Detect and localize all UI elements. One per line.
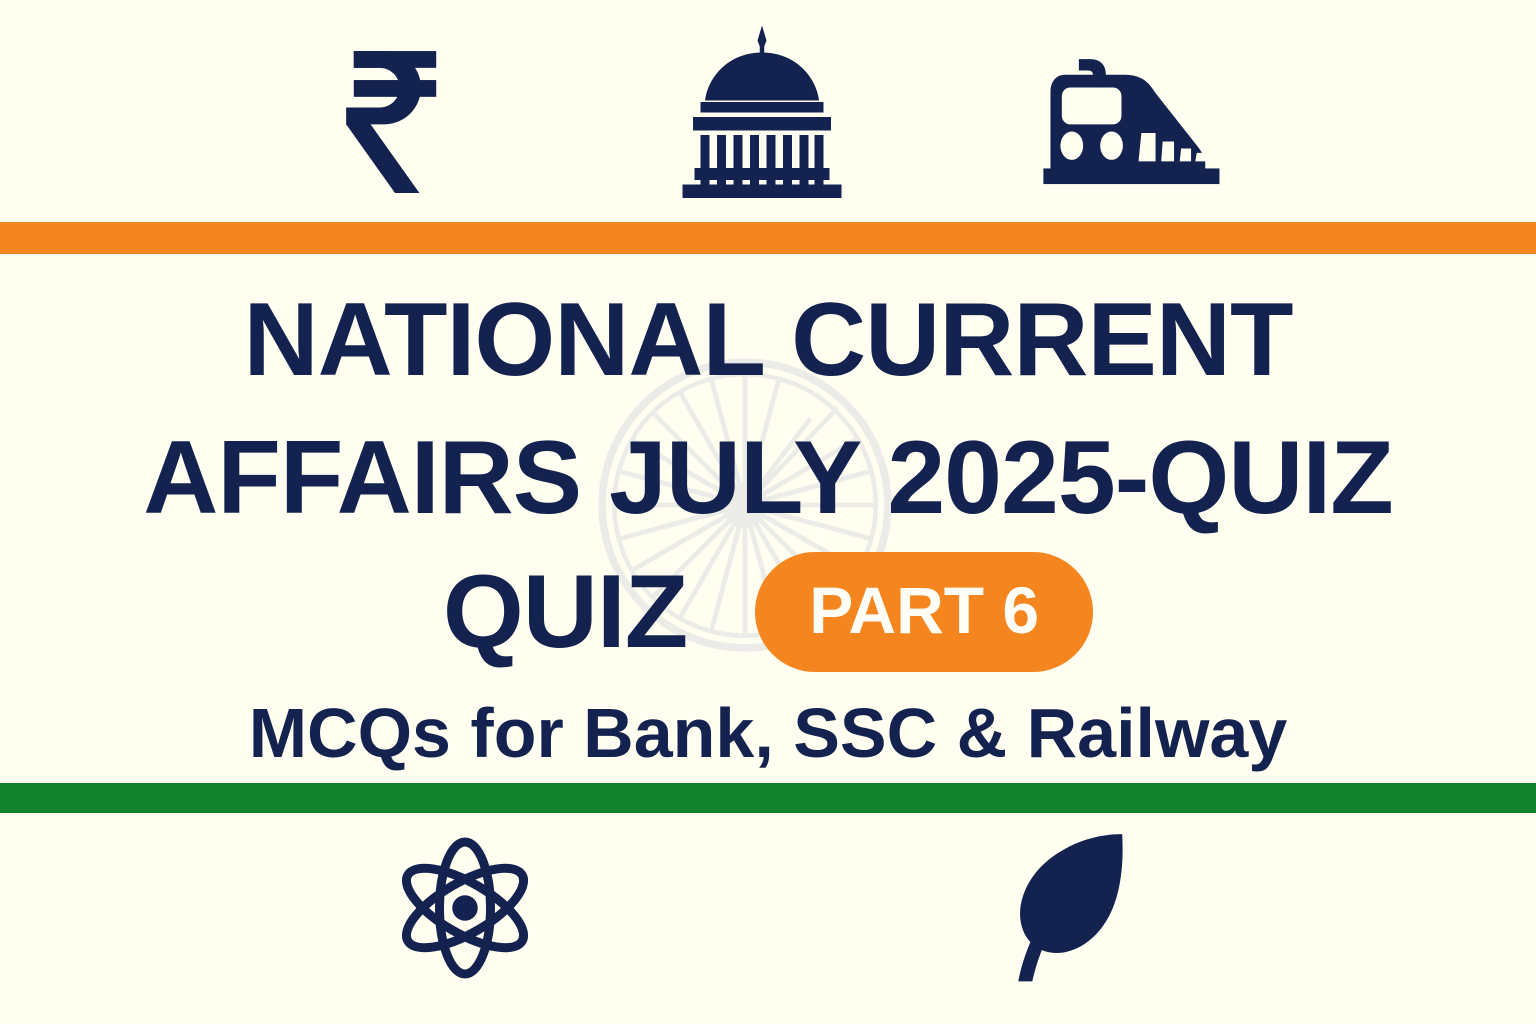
heading-line-2: AFFAIRS JULY 2025-QUIZ	[143, 426, 1393, 530]
part-badge: PART 6	[755, 552, 1093, 672]
leaf-icon	[1000, 831, 1142, 986]
saffron-stripe	[0, 222, 1536, 254]
train-icon	[1030, 52, 1230, 194]
bottom-icon-row	[0, 813, 1536, 1024]
quiz-row: QUIZ PART 6	[443, 552, 1093, 672]
parliament-building-icon	[672, 22, 852, 200]
rupee-icon	[340, 48, 450, 193]
poster-canvas: NATIONAL CURRENT AFFAIRS JULY 2025-QUIZ …	[0, 0, 1536, 1024]
poster-subtitle: MCQs for Bank, SSC & Railway	[249, 698, 1288, 768]
poster-text-block: NATIONAL CURRENT AFFAIRS JULY 2025-QUIZ …	[0, 254, 1536, 783]
quiz-word: QUIZ	[443, 560, 687, 664]
atom-icon	[390, 833, 540, 983]
top-icon-row	[0, 0, 1536, 222]
green-stripe	[0, 783, 1536, 813]
heading-line-1: NATIONAL CURRENT	[244, 288, 1293, 392]
